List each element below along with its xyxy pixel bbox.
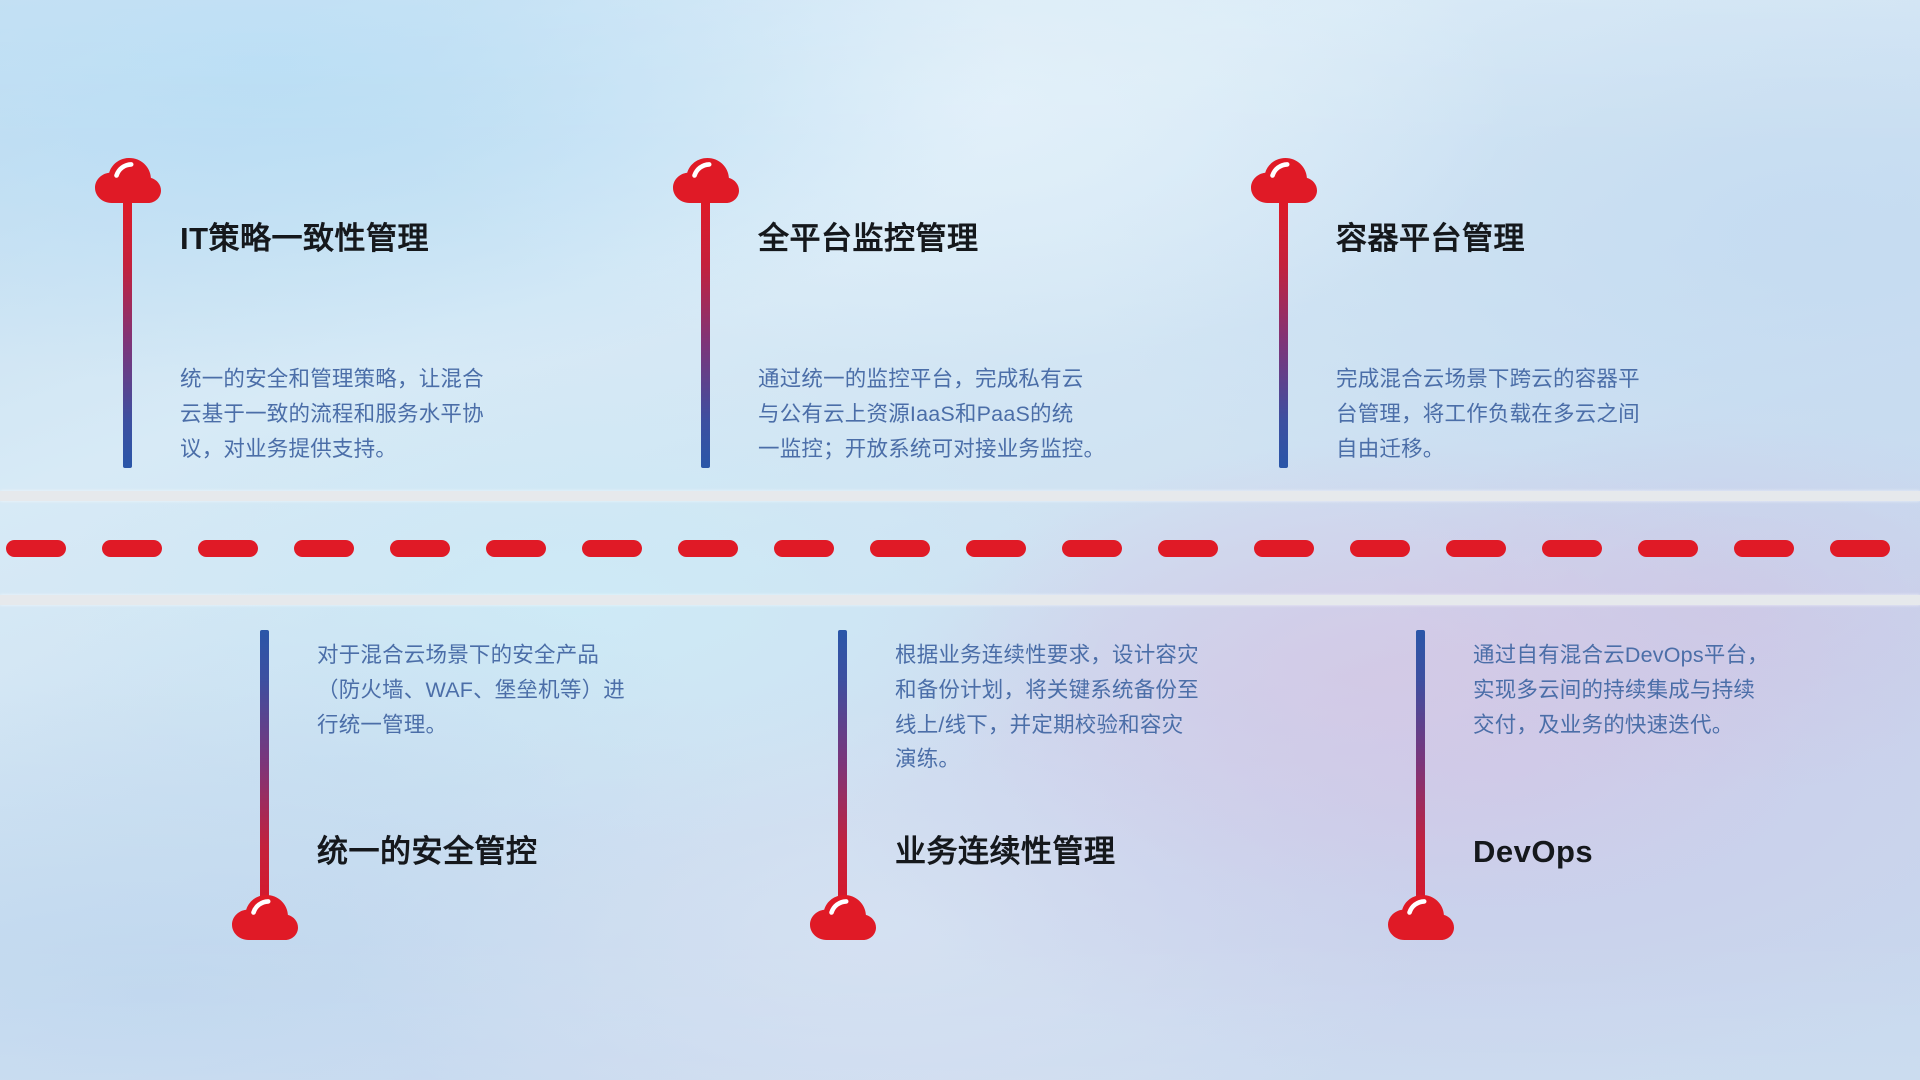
road-dash-segment	[1734, 540, 1794, 557]
road-dash-segment	[1062, 540, 1122, 557]
column-body-text: 统一的安全和管理策略，让混合 云基于一致的流程和服务水平协 议，对业务提供支持。	[180, 362, 610, 466]
cloud-icon	[232, 895, 298, 941]
column-title: DevOps	[1473, 833, 1593, 870]
column-stem	[701, 200, 710, 468]
cloud-icon	[95, 158, 161, 204]
column-stem	[1279, 200, 1288, 468]
column-title: IT策略一致性管理	[180, 220, 429, 257]
road-center-dashed-line	[0, 540, 1920, 557]
road-dash-segment	[486, 540, 546, 557]
road-dash-segment	[870, 540, 930, 557]
column-body-text: 对于混合云场景下的安全产品 （防火墙、WAF、堡垒机等）进 行统一管理。	[317, 638, 747, 742]
column-stem	[260, 630, 269, 908]
road-dash-segment	[1638, 540, 1698, 557]
road-dash-segment	[6, 540, 66, 557]
road-dash-segment	[198, 540, 258, 557]
road-dash-segment	[582, 540, 642, 557]
road-dash-segment	[1350, 540, 1410, 557]
cloud-icon	[810, 895, 876, 941]
road-dash-segment	[966, 540, 1026, 557]
road-dash-segment	[1446, 540, 1506, 557]
infographic-canvas: IT策略一致性管理 统一的安全和管理策略，让混合 云基于一致的流程和服务水平协 …	[0, 0, 1920, 1080]
road-dash-segment	[102, 540, 162, 557]
road-edge-bottom	[0, 595, 1920, 605]
column-body-text: 通过自有混合云DevOps平台， 实现多云间的持续集成与持续 交付，及业务的快速…	[1473, 638, 1903, 742]
column-stem	[1416, 630, 1425, 908]
road-dash-segment	[1830, 540, 1890, 557]
road-dash-segment	[1542, 540, 1602, 557]
road-dash-segment	[1158, 540, 1218, 557]
column-title: 业务连续性管理	[895, 833, 1116, 870]
road-dash-segment	[390, 540, 450, 557]
column-title: 容器平台管理	[1336, 220, 1525, 257]
cloud-icon	[673, 158, 739, 204]
column-body-text: 通过统一的监控平台，完成私有云 与公有云上资源IaaS和PaaS的统 一监控；开…	[758, 362, 1208, 466]
cloud-icon	[1251, 158, 1317, 204]
road-dash-segment	[1254, 540, 1314, 557]
column-title: 统一的安全管控	[317, 833, 538, 870]
road-dash-segment	[774, 540, 834, 557]
column-body-text: 完成混合云场景下跨云的容器平 台管理，将工作负载在多云之间 自由迁移。	[1336, 362, 1766, 466]
cloud-icon	[1388, 895, 1454, 941]
road-dash-segment	[294, 540, 354, 557]
column-stem	[123, 200, 132, 468]
road-dash-segment	[678, 540, 738, 557]
column-body-text: 根据业务连续性要求，设计容灾 和备份计划，将关键系统备份至 线上/线下，并定期校…	[895, 638, 1335, 777]
road-edge-top	[0, 491, 1920, 501]
column-title: 全平台监控管理	[758, 220, 979, 257]
column-stem	[838, 630, 847, 908]
